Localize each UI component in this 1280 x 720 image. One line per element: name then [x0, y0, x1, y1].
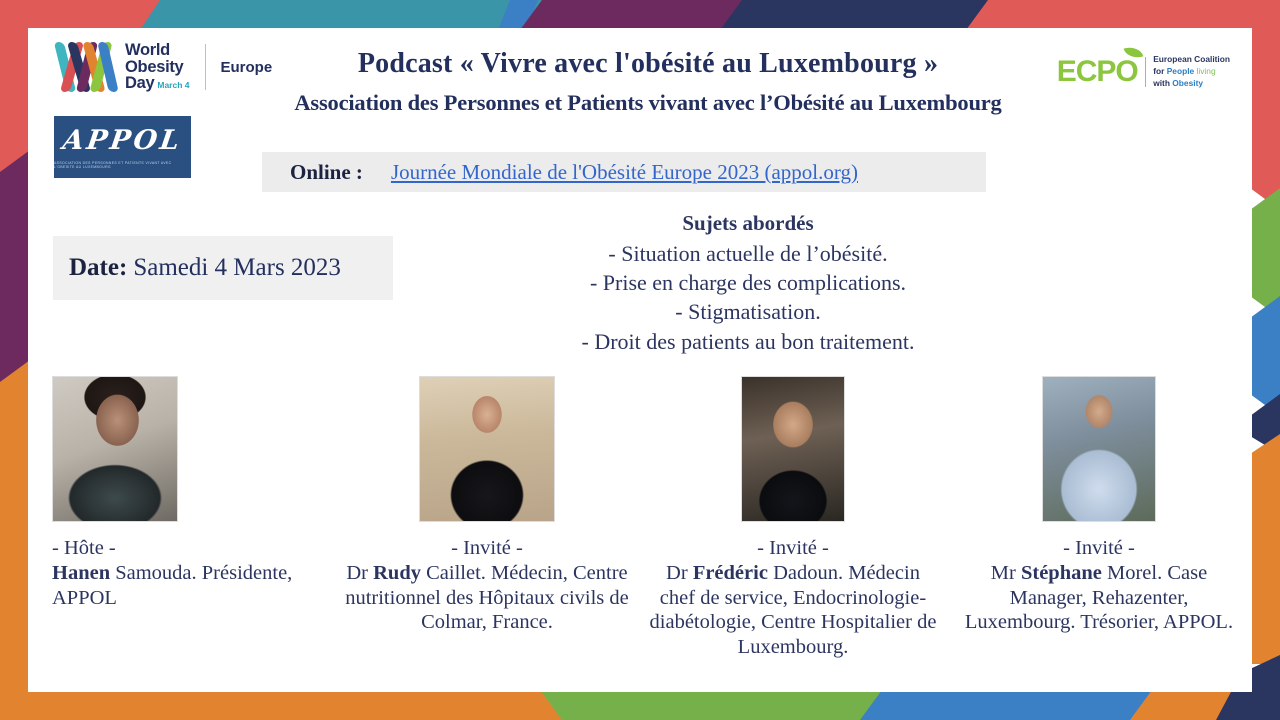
speaker-photo [52, 376, 178, 522]
online-row: Online : Journée Mondiale de l'Obésité E… [262, 152, 986, 192]
ecpo-logo: ECPO European Coalition for People livin… [1057, 54, 1230, 90]
border-band-right-orange [1250, 434, 1280, 664]
border-band-left-orange [0, 360, 30, 720]
ecpo-obesity: Obesity [1172, 78, 1203, 88]
ecpo-tagline-line-3: with Obesity [1153, 78, 1230, 90]
ecpo-wordmark-text: ECPO [1057, 55, 1138, 88]
online-link[interactable]: Journée Mondiale de l'Obésité Europe 202… [391, 160, 858, 185]
speaker-role: - Hôte - [52, 536, 328, 561]
world-obesity-day-wordmark: World Obesity DayMarch 4 [125, 42, 190, 92]
topic-item: - Situation actuelle de l’obésité. [448, 239, 1048, 268]
border-band-bottom-orange-left [0, 690, 580, 720]
border-band-left-purple [0, 150, 30, 390]
speaker-name-rest: Dadoun. [768, 562, 843, 584]
speaker-role: - Invité - [646, 536, 940, 561]
wod-line-3-wrap: DayMarch 4 [125, 75, 190, 92]
world-obesity-day-mark-icon [60, 40, 116, 94]
speaker-details: - Invité - Mr Stéphane Morel. Case Manag… [946, 536, 1252, 635]
speaker-details: - Invité - Dr Frédéric Dadoun. Médecin c… [640, 536, 946, 660]
speaker-name-rest: Morel. [1102, 562, 1162, 584]
speaker-name-bold: Frédéric [693, 562, 768, 584]
ecpo-people: People [1167, 66, 1197, 76]
speaker-name-bold: Stéphane [1021, 562, 1102, 584]
border-band-right-coral [1250, 0, 1280, 210]
speaker-name-rest: Caillet. [421, 562, 486, 584]
logo-divider [205, 44, 206, 90]
speaker-photo [419, 376, 555, 522]
date-value: Samedi 4 Mars 2023 [133, 254, 341, 282]
appol-logo-subtitle: ASSOCIATION DES PERSONNES ET PATIENTS VI… [54, 161, 191, 169]
topics-block: Sujets abordés - Situation actuelle de l… [448, 210, 1048, 356]
border-band-top-teal [140, 0, 560, 30]
online-label: Online : [290, 160, 363, 185]
speaker-name-bold: Rudy [373, 562, 421, 584]
speaker-card: - Invité - Dr Rudy Caillet. Médecin, Cen… [334, 376, 640, 692]
border-band-left-coral [0, 0, 30, 180]
page-subtitle: Association des Personnes et Patients vi… [208, 90, 1088, 116]
speaker-details: - Invité - Dr Rudy Caillet. Médecin, Cen… [334, 536, 640, 635]
page-title: Podcast « Vivre avec l'obésité au Luxemb… [208, 48, 1088, 80]
speaker-name-prefix: Mr [991, 562, 1021, 584]
ecpo-divider [1145, 57, 1147, 87]
appol-logo: APPOL ASSOCIATION DES PERSONNES ET PATIE… [54, 116, 191, 178]
topic-item: - Droit des patients au bon traitement. [448, 327, 1048, 356]
ecpo-for: for [1153, 66, 1167, 76]
date-label: Date: [69, 254, 127, 282]
speaker-role: - Invité - [952, 536, 1246, 561]
speaker-photo [741, 376, 845, 522]
slide-content-card: World Obesity DayMarch 4 Europe APPOL AS… [28, 28, 1252, 692]
ecpo-tagline-line-1: European Coalition [1153, 54, 1230, 66]
ecpo-tagline: European Coalition for People living wit… [1153, 54, 1230, 90]
appol-wordmark: APPOL [61, 125, 184, 156]
topics-title: Sujets abordés [448, 210, 1048, 238]
speaker-card: - Hôte - Hanen Samouda. Présidente, APPO… [28, 376, 334, 692]
border-band-bottom-green [540, 690, 900, 720]
border-band-top-navy [720, 0, 1010, 30]
topic-item: - Prise en charge des complications. [448, 268, 1048, 297]
speaker-details: - Hôte - Hanen Samouda. Présidente, APPO… [28, 536, 334, 610]
speakers-row: - Hôte - Hanen Samouda. Présidente, APPO… [28, 376, 1252, 692]
ecpo-tagline-line-2: for People living [1153, 66, 1230, 78]
wod-line-3: Day [125, 74, 154, 92]
speaker-name-bold: Hanen [52, 562, 110, 584]
speaker-name-rest: Samouda. [110, 562, 197, 584]
date-box: Date: Samedi 4 Mars 2023 [53, 236, 393, 300]
slide-frame: World Obesity DayMarch 4 Europe APPOL AS… [0, 0, 1280, 720]
topic-item: - Stigmatisation. [448, 297, 1048, 326]
title-block: Podcast « Vivre avec l'obésité au Luxemb… [208, 48, 1088, 116]
wod-march-date: March 4 [157, 80, 189, 90]
speaker-name-prefix: Dr [666, 562, 693, 584]
wod-line-2: Obesity [125, 59, 190, 76]
speaker-card: - Invité - Mr Stéphane Morel. Case Manag… [946, 376, 1252, 692]
border-band-bottom-blue [860, 690, 1170, 720]
ecpo-wordmark: ECPO [1057, 55, 1138, 89]
speaker-role: - Invité - [340, 536, 634, 561]
border-band-right-green [1250, 188, 1280, 318]
border-band-top-coral-right [966, 0, 1280, 30]
speaker-name-prefix: Dr [346, 562, 373, 584]
speaker-photo [1042, 376, 1156, 522]
ecpo-with: with [1153, 78, 1172, 88]
slide-header: World Obesity DayMarch 4 Europe APPOL AS… [28, 28, 1252, 148]
ecpo-living: living [1197, 66, 1216, 76]
speaker-card: - Invité - Dr Frédéric Dadoun. Médecin c… [640, 376, 946, 692]
wod-line-1: World [125, 42, 190, 59]
